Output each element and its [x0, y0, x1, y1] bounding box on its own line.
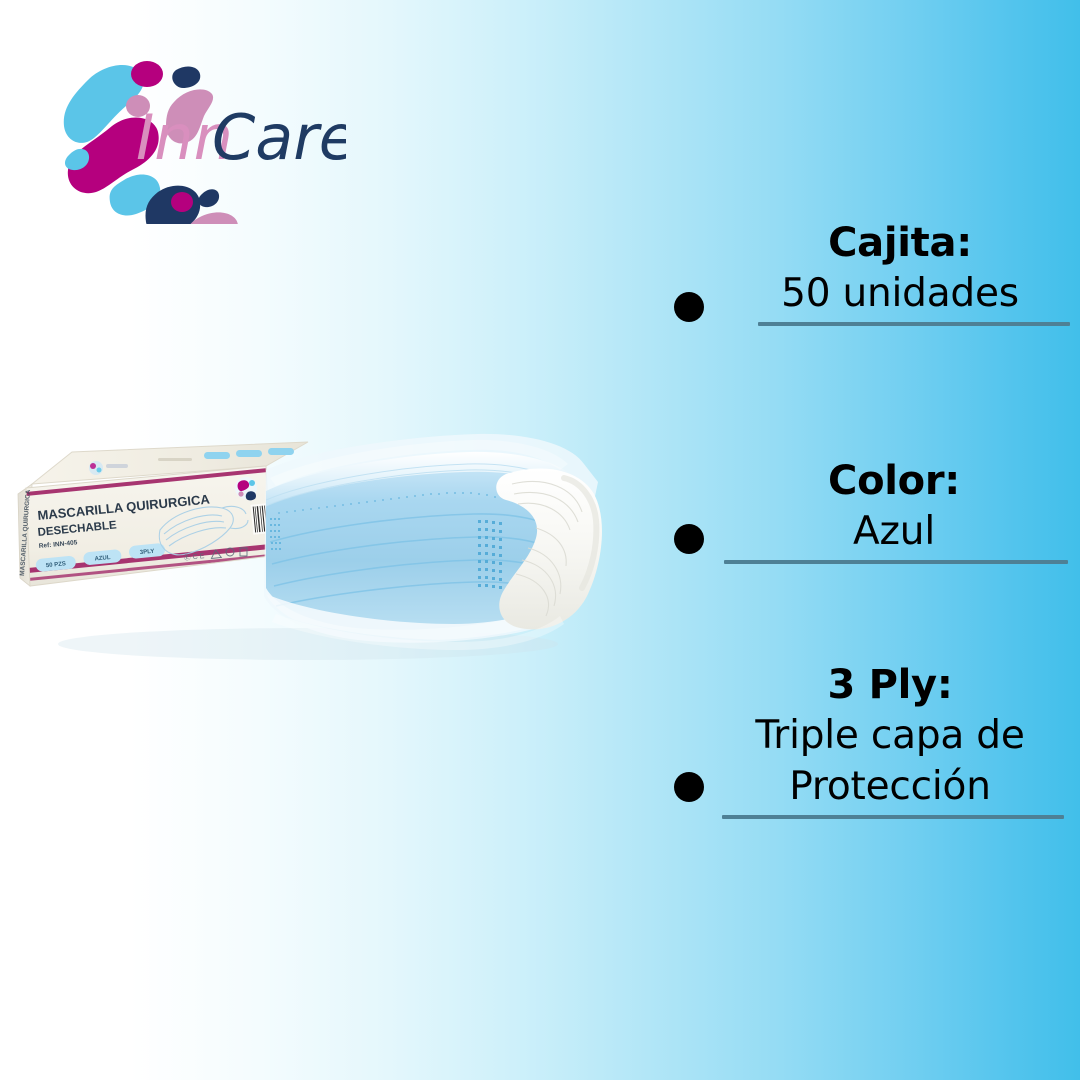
spec-value-color: Azul	[718, 506, 1070, 557]
spec-title-3ply: 3 Ply:	[710, 660, 1070, 710]
spec-value-3ply-line1: Triple capa de	[710, 710, 1070, 761]
spec-value-cajita: 50 unidades	[730, 268, 1070, 319]
spec-title-color: Color:	[718, 456, 1070, 506]
spec-underline-color	[724, 560, 1068, 564]
product-box: MASCARILLA QUIRURGICA DESECHABLE Ref: IN…	[18, 442, 308, 586]
spec-underline-cajita	[758, 322, 1070, 326]
bullet-icon	[674, 524, 704, 554]
bullet-icon	[674, 772, 704, 802]
product-marketing-card: Inn Care	[0, 0, 1080, 1080]
spec-underline-3ply	[722, 815, 1064, 819]
mask-stack	[264, 434, 602, 650]
product-photo: MASCARILLA QUIRURGICA DESECHABLE Ref: IN…	[8, 408, 628, 688]
product-spec-list: Cajita: 50 unidades Color: Azul 3 Ply: T…	[648, 208, 1072, 888]
bullet-icon	[674, 292, 704, 322]
inncare-logo: Inn Care	[26, 34, 346, 224]
spec-title-cajita: Cajita:	[730, 218, 1070, 268]
spec-value-3ply-line2: Protección	[710, 761, 1070, 812]
logo-text-care: Care	[212, 101, 346, 174]
